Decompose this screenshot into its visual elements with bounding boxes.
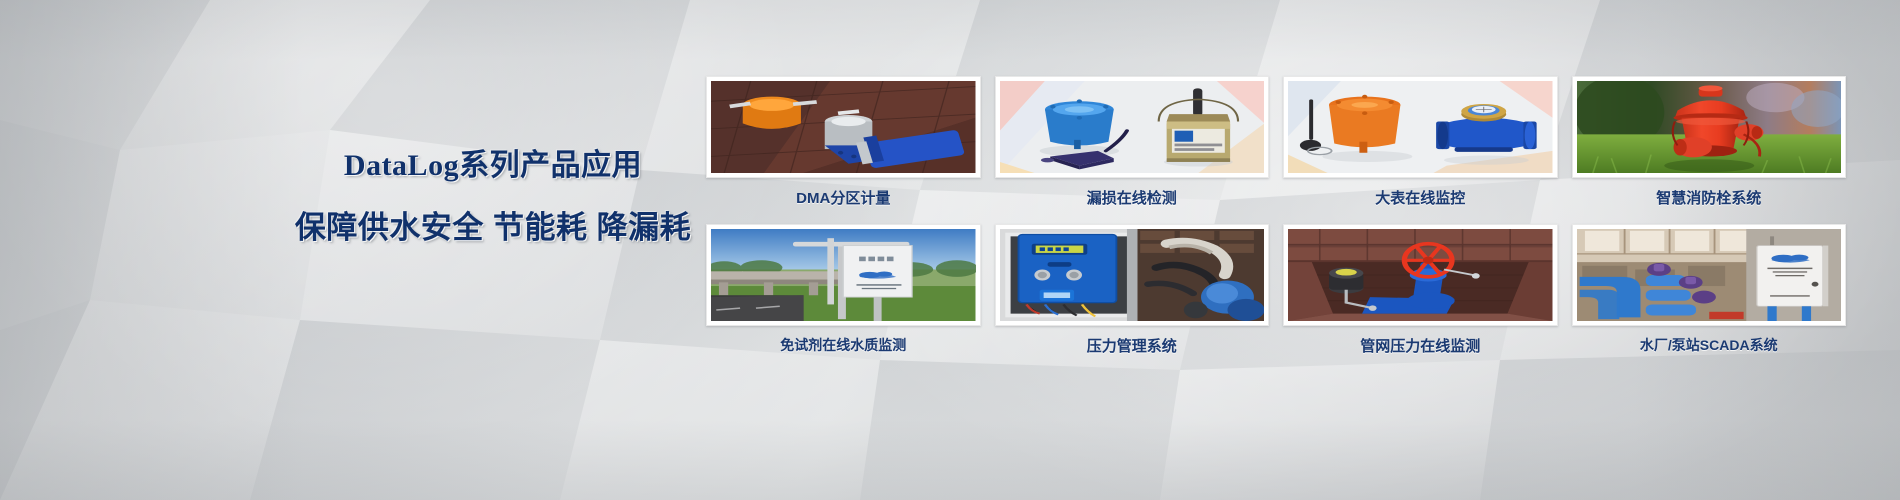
dma-metering-chamber-photo <box>711 81 976 173</box>
headline-block: DataLog系列产品应用 保障供水安全 节能耗 降漏耗 <box>278 146 708 248</box>
product-thumbnail[interactable] <box>995 76 1270 178</box>
headline-line-1: DataLog系列产品应用 <box>278 146 708 186</box>
product-card[interactable]: 压力管理系统 <box>995 224 1270 356</box>
headline-line-2: 保障供水安全 节能耗 降漏耗 <box>278 208 708 248</box>
product-caption: 水厂/泵站SCADA系统 <box>1572 335 1847 355</box>
leak-detection-devices-photo <box>1000 81 1265 173</box>
product-card[interactable]: 管网压力在线监测 <box>1283 224 1558 356</box>
smart-fire-hydrant-photo <box>1577 81 1842 173</box>
product-caption: 大表在线监控 <box>1283 187 1558 208</box>
product-caption: 漏损在线检测 <box>995 187 1270 208</box>
waterworks-pump-station-scada-photo <box>1577 229 1842 321</box>
product-application-banner: DataLog系列产品应用 保障供水安全 节能耗 降漏耗 <box>0 0 1900 500</box>
reagent-free-water-quality-station-photo <box>711 229 976 321</box>
pipe-network-pressure-valve-photo <box>1288 229 1553 321</box>
product-thumbnail[interactable] <box>1572 224 1847 326</box>
product-card[interactable]: 漏损在线检测 <box>995 76 1270 208</box>
bulk-meter-monitor-photo <box>1288 81 1553 173</box>
product-card[interactable]: 免试剂在线水质监测 <box>706 224 981 356</box>
product-card-grid: DMA分区计量 <box>706 76 1846 356</box>
product-caption: 免试剂在线水质监测 <box>706 335 981 355</box>
product-caption: 压力管理系统 <box>995 335 1270 356</box>
product-thumbnail[interactable] <box>1283 76 1558 178</box>
product-thumbnail[interactable] <box>1283 224 1558 326</box>
product-thumbnail[interactable] <box>706 76 981 178</box>
product-thumbnail[interactable] <box>995 224 1270 326</box>
product-card[interactable]: DMA分区计量 <box>706 76 981 208</box>
product-card[interactable]: 智慧消防栓系统 <box>1572 76 1847 208</box>
product-card[interactable]: 大表在线监控 <box>1283 76 1558 208</box>
product-thumbnail[interactable] <box>1572 76 1847 178</box>
pressure-management-cabinet-photo <box>1000 229 1265 321</box>
product-card[interactable]: 水厂/泵站SCADA系统 <box>1572 224 1847 356</box>
product-caption: 智慧消防栓系统 <box>1572 187 1847 208</box>
product-thumbnail[interactable] <box>706 224 981 326</box>
product-caption: 管网压力在线监测 <box>1283 335 1558 356</box>
product-caption: DMA分区计量 <box>706 187 981 208</box>
